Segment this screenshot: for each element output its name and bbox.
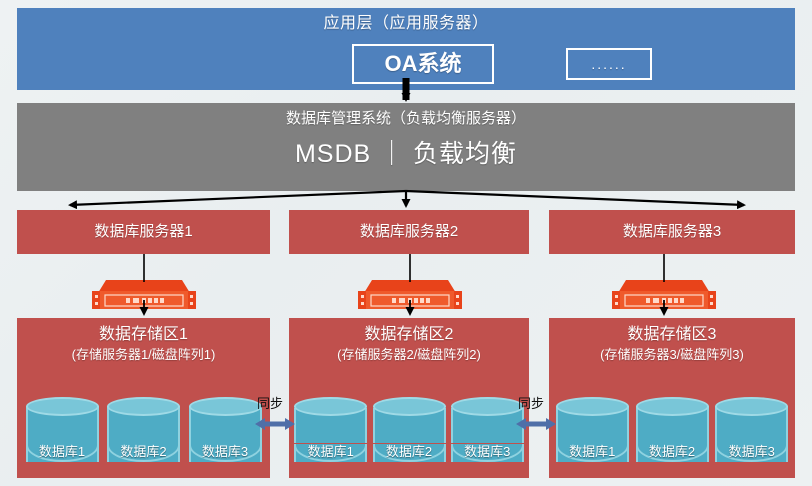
storage-zone-box-1[interactable]: 数据存储区1 (存储服务器1/磁盘阵列1) 数据库1 数据库2 数据库3 bbox=[17, 318, 270, 478]
storage-zone-subtitle-1: (存储服务器1/磁盘阵列1) bbox=[72, 347, 216, 362]
database-label: 数据库1 bbox=[308, 444, 354, 469]
storage-zone-title-2: 数据存储区2 bbox=[365, 326, 454, 345]
more-systems-box[interactable]: ...... bbox=[566, 48, 652, 80]
database-cylinder[interactable]: 数据库1 bbox=[556, 397, 629, 469]
database-cylinder[interactable]: 数据库2 bbox=[636, 397, 709, 469]
server-appliance-icon-3 bbox=[612, 277, 716, 316]
sync-label: 同步 bbox=[257, 393, 283, 412]
cylinder-top-ellipse bbox=[373, 397, 446, 416]
sync-label: 同步 bbox=[518, 393, 544, 412]
application-systems-row: OA系统 ...... bbox=[17, 42, 795, 86]
storage-zone-box-2[interactable]: 数据存储区2 (存储服务器2/磁盘阵列2) 数据库1 数据库2 数据库3 bbox=[289, 318, 529, 478]
db-server-box-2[interactable]: 数据库服务器2 bbox=[289, 210, 529, 254]
wire-dbms-to-server-3 bbox=[406, 191, 744, 205]
database-label: 数据库3 bbox=[202, 444, 248, 469]
server-appliance-icon-2 bbox=[358, 277, 462, 316]
cylinder-top-ellipse bbox=[26, 397, 99, 416]
server-appliance-icon-1 bbox=[92, 277, 196, 316]
application-layer-band: 应用层（应用服务器） OA系统 ...... bbox=[17, 8, 795, 90]
cylinder-top-ellipse bbox=[556, 397, 629, 416]
database-cylinder[interactable]: 数据库1 bbox=[294, 397, 367, 469]
cylinder-top-ellipse bbox=[189, 397, 262, 416]
cylinder-top-ellipse bbox=[107, 397, 180, 416]
database-cylinder-row-1: 数据库1 数据库2 数据库3 bbox=[17, 397, 270, 469]
cylinder-top-ellipse bbox=[636, 397, 709, 416]
database-label: 数据库3 bbox=[729, 444, 775, 469]
db-server-box-3[interactable]: 数据库服务器3 bbox=[549, 210, 795, 254]
database-cylinder[interactable]: 数据库2 bbox=[373, 397, 446, 469]
database-label: 数据库2 bbox=[386, 444, 432, 469]
storage-zone-subtitle-2: (存储服务器2/磁盘阵列2) bbox=[337, 347, 481, 362]
cylinder-top-ellipse bbox=[451, 397, 524, 416]
cylinder-top-ellipse bbox=[294, 397, 367, 416]
dbms-layer-subtitle: MSDB ｜ 负载均衡 bbox=[295, 140, 517, 170]
database-cylinder[interactable]: 数据库3 bbox=[715, 397, 788, 469]
architecture-diagram: 应用层（应用服务器） OA系统 ...... 数据库管理系统（负载均衡服务器） … bbox=[0, 0, 812, 486]
database-cylinder[interactable]: 数据库2 bbox=[107, 397, 180, 469]
database-label: 数据库3 bbox=[464, 444, 510, 469]
database-cylinder-row-3: 数据库1 数据库2 数据库3 bbox=[549, 397, 795, 469]
storage-zone-title-3: 数据存储区3 bbox=[628, 326, 717, 345]
db-server-box-1[interactable]: 数据库服务器1 bbox=[17, 210, 270, 254]
wire-dbms-to-server-1 bbox=[70, 191, 406, 205]
database-cylinder[interactable]: 数据库1 bbox=[26, 397, 99, 469]
storage-zone-subtitle-3: (存储服务器3/磁盘阵列3) bbox=[600, 347, 744, 362]
storage-zone-title-1: 数据存储区1 bbox=[99, 326, 188, 345]
dbms-layer-band: 数据库管理系统（负载均衡服务器） MSDB ｜ 负载均衡 bbox=[17, 103, 795, 191]
database-label: 数据库2 bbox=[120, 444, 166, 469]
dbms-layer-title: 数据库管理系统（负载均衡服务器） bbox=[286, 110, 526, 128]
application-layer-title: 应用层（应用服务器） bbox=[323, 15, 488, 34]
database-label: 数据库1 bbox=[569, 444, 615, 469]
database-label: 数据库1 bbox=[39, 444, 85, 469]
database-cylinder[interactable]: 数据库3 bbox=[189, 397, 262, 469]
oa-system-box[interactable]: OA系统 bbox=[352, 44, 494, 84]
storage-zone-box-3[interactable]: 数据存储区3 (存储服务器3/磁盘阵列3) 数据库1 数据库2 数据库3 bbox=[549, 318, 795, 478]
database-cylinder[interactable]: 数据库3 bbox=[451, 397, 524, 469]
database-cylinder-row-2: 数据库1 数据库2 数据库3 bbox=[289, 397, 529, 469]
sync-double-arrow-icon bbox=[516, 415, 556, 433]
sync-double-arrow-icon bbox=[255, 415, 295, 433]
cylinder-top-ellipse bbox=[715, 397, 788, 416]
database-label: 数据库2 bbox=[649, 444, 695, 469]
